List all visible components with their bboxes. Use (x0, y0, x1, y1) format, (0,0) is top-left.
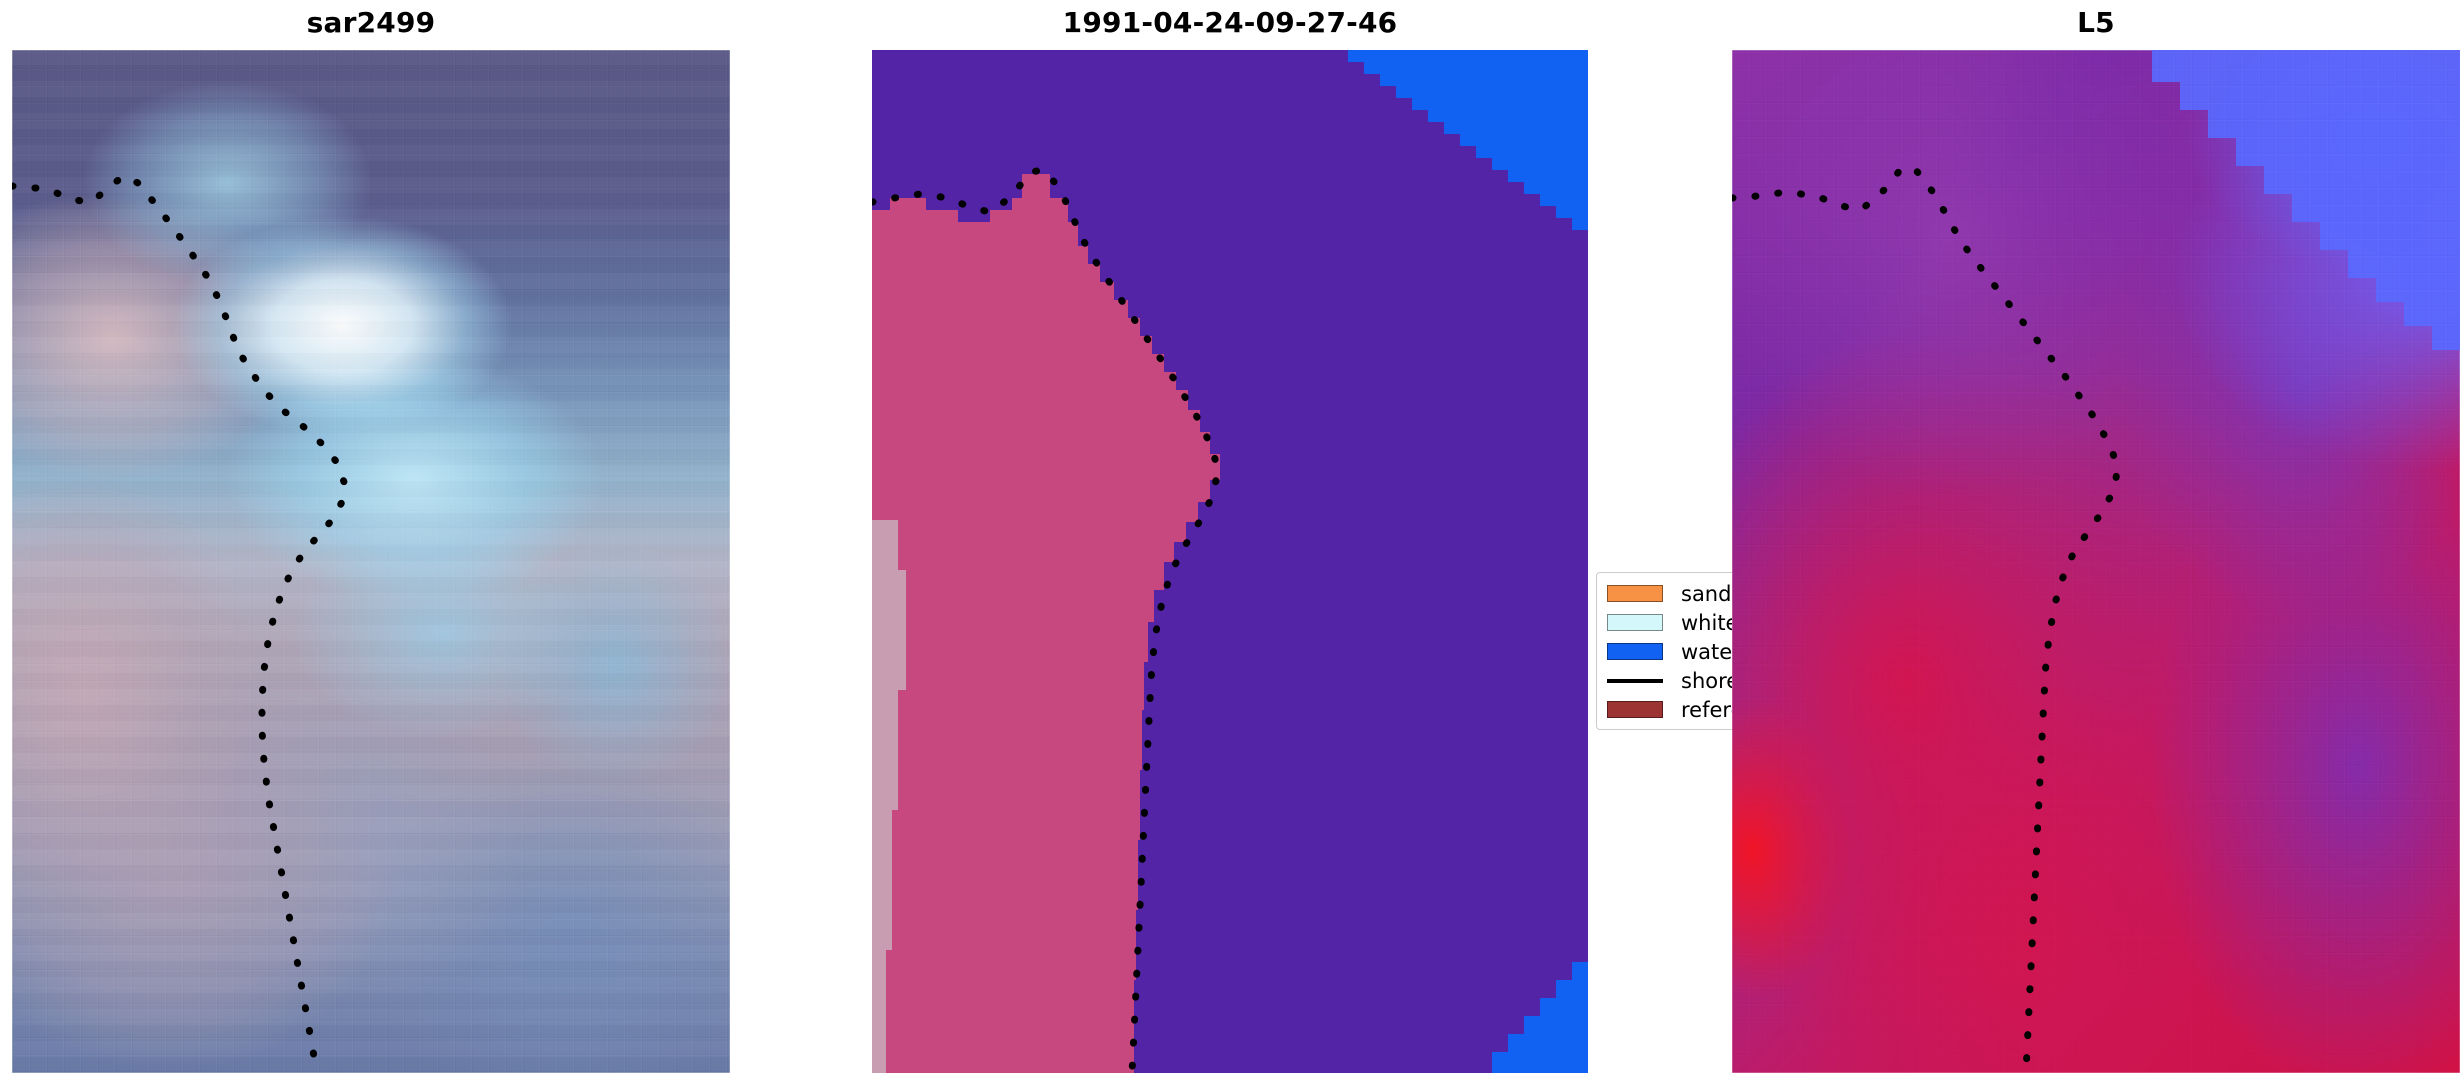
panel-title-classification: 1991-04-24-09-27-46 (872, 6, 1588, 40)
whitewater-swatch (1607, 614, 1663, 631)
legend-label-water: water (1681, 639, 1732, 665)
panel-title-l5: L5 (1732, 6, 2460, 40)
shoreline-overlay-classification (872, 50, 1588, 1073)
legend-clip-region: sand whitewater water shoreline referenc (1588, 560, 1732, 745)
legend-item-whitewater[interactable]: whitewater (1607, 608, 1732, 637)
shoreline-swatch (1607, 672, 1663, 689)
sand-swatch (1607, 585, 1663, 602)
shoreline-overlay-l5 (1732, 50, 2460, 1073)
legend-label-whitewater: whitewater (1681, 610, 1732, 636)
panel-title-sar: sar2499 (12, 6, 730, 40)
reference-swatch (1607, 701, 1663, 718)
legend-item-water[interactable]: water (1607, 637, 1732, 666)
legend-item-list: sand whitewater water shoreline referenc (1607, 579, 1732, 724)
legend-box[interactable]: sand whitewater water shoreline referenc (1596, 572, 1732, 730)
panel-l5-image[interactable] (1732, 50, 2460, 1073)
panel-classification-image[interactable] (872, 50, 1588, 1073)
water-swatch (1607, 643, 1663, 660)
legend-label-sand: sand (1681, 581, 1731, 607)
shoreline-overlay-sar (12, 50, 730, 1073)
legend-item-sand[interactable]: sand (1607, 579, 1732, 608)
legend-label-reference: reference (1681, 697, 1732, 723)
figure-root: sar2499 1991-04-24-09-27-46 L5 (0, 0, 2460, 1089)
panel-sar-image[interactable] (12, 50, 730, 1073)
legend-item-reference[interactable]: reference (1607, 695, 1732, 724)
legend-item-shoreline[interactable]: shoreline (1607, 666, 1732, 695)
legend-label-shoreline: shoreline (1681, 668, 1732, 694)
